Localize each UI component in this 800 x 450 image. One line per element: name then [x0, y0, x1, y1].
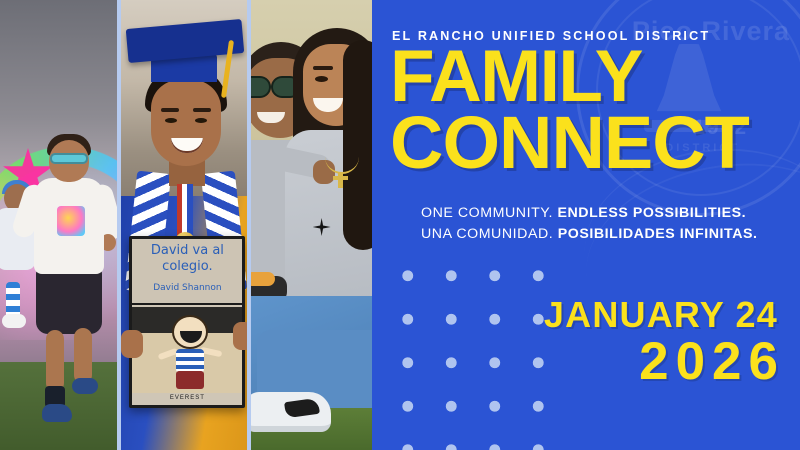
tagline-english: ONE COMMUNITY. ENDLESS POSSIBILITIES.: [421, 203, 758, 224]
graduate-brow-left: [161, 108, 179, 112]
book-publisher: EVEREST: [132, 395, 242, 401]
boy-shorts: [36, 266, 102, 334]
tagline-es-regular: UNA COMUNIDAD.: [421, 226, 553, 242]
book-character-legs: [176, 371, 204, 389]
background-child-sock: [6, 282, 20, 318]
boy-right-leg: [74, 328, 92, 384]
graduate-face: [151, 80, 221, 166]
photo-graduate: David va al colegio. David Shannon EVERE…: [121, 0, 246, 450]
tagline-en-bold: ENDLESS POSSIBILITIES.: [557, 205, 746, 221]
book-author: David Shannon: [132, 283, 242, 293]
sunglasses-icon: [50, 153, 88, 164]
page-title: FAMILY CONNECT: [388, 44, 792, 176]
book-title: David va al colegio.: [132, 243, 242, 275]
food-contents: [251, 272, 275, 286]
boy-left-shoe: [42, 404, 72, 422]
tagline-block: ONE COMMUNITY. ENDLESS POSSIBILITIES. UN…: [421, 203, 758, 245]
photo-family: [251, 0, 372, 450]
boy-left-leg: [46, 330, 64, 392]
boy-right-shoe: [72, 378, 98, 394]
graduate-hand-right: [233, 322, 246, 350]
book-character-body: [176, 349, 204, 373]
graduate-hand-left: [121, 330, 143, 358]
event-date: JANUARY 24 2026: [544, 296, 778, 390]
event-date-year: 2026: [544, 334, 785, 390]
title-line-connect: CONNECT: [388, 110, 792, 176]
tagline-es-bold: POSIBILIDADES INFINITAS.: [558, 226, 758, 242]
photo-color-run: [0, 0, 117, 450]
book-cover: David va al colegio. David Shannon EVERE…: [129, 236, 245, 408]
tagline-spanish: UNA COMUNIDAD. POSIBILIDADES INFINITAS.: [421, 224, 758, 245]
photo-strip: David va al colegio. David Shannon EVERE…: [0, 0, 372, 450]
tagline-en-regular: ONE COMMUNITY.: [421, 205, 553, 221]
family-connect-flyer: David va al colegio. David Shannon EVERE…: [0, 0, 800, 450]
cross-pendant-icon: [338, 172, 343, 188]
blue-content-panel: Pico Rivera DISTRICT 1962 EL RANCHO UNIF…: [372, 0, 800, 450]
graduate-brow-right: [193, 108, 211, 112]
tshirt-graphic: [57, 206, 85, 236]
medal-ribbon: [177, 184, 193, 236]
daughter-brow: [313, 66, 333, 70]
daughter-hair-front: [343, 40, 372, 250]
event-date-month-day: JANUARY 24: [544, 296, 778, 334]
daughter-eye: [315, 76, 328, 82]
background-child-shoe: [2, 314, 26, 328]
panel-content: EL RANCHO UNIFIED SCHOOL DISTRICT FAMILY…: [372, 0, 800, 450]
